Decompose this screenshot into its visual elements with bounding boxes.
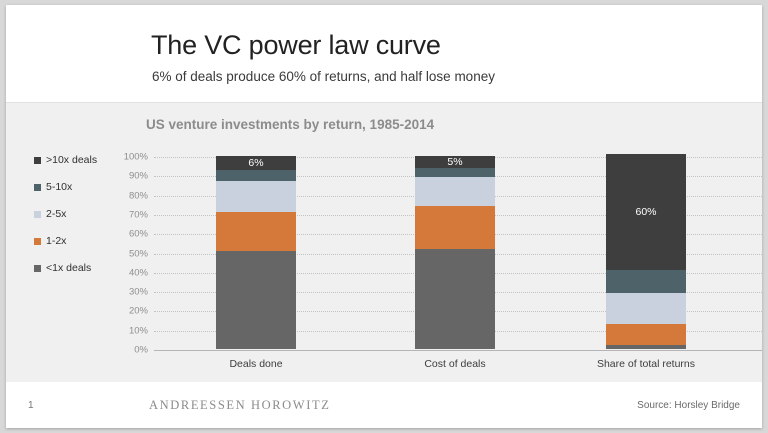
bar-column[interactable]: 60%Share of total returns: [606, 154, 686, 349]
chart-title: US venture investments by return, 1985-2…: [146, 117, 434, 132]
bar-segment[interactable]: [606, 345, 686, 349]
bar-segment[interactable]: [606, 293, 686, 324]
bar-segment[interactable]: [415, 177, 495, 206]
legend-swatch-icon: [34, 184, 41, 191]
source-note: Source: Horsley Bridge: [637, 400, 740, 411]
bar-value-label: 6%: [216, 158, 296, 169]
legend-swatch-icon: [34, 265, 41, 272]
slide: The VC power law curve 6% of deals produ…: [6, 5, 762, 428]
bar-segment[interactable]: 6%: [216, 156, 296, 170]
x-axis-category-label: Deals done: [176, 358, 336, 370]
bar-segment[interactable]: [415, 168, 495, 178]
y-axis-tick-label: 40%: [129, 268, 148, 278]
x-axis-category-label: Share of total returns: [566, 358, 726, 370]
legend-swatch-icon: [34, 238, 41, 245]
bar-segment[interactable]: [216, 251, 296, 349]
x-axis-line: [154, 350, 762, 351]
page-title: The VC power law curve: [151, 30, 441, 61]
legend-item[interactable]: 1-2x: [34, 234, 139, 248]
chart-legend: >10x deals5-10x2-5x1-2x<1x deals: [34, 153, 139, 288]
slide-footer: 1 ANDREESSEN HOROWITZ Source: Horsley Br…: [6, 382, 762, 428]
y-axis-tick-label: 70%: [129, 210, 148, 220]
chart-plot-area: 100%90%80%70%60%50%40%30%20%10%0%6%Deals…: [154, 156, 762, 350]
bar-segment[interactable]: [216, 181, 296, 212]
bar-segment[interactable]: [606, 324, 686, 345]
slide-header: The VC power law curve 6% of deals produ…: [6, 5, 762, 102]
page-number: 1: [28, 400, 34, 411]
y-axis-tick-label: 20%: [129, 307, 148, 317]
legend-label: >10x deals: [46, 155, 97, 166]
bar-segment[interactable]: [216, 212, 296, 251]
brand-wordmark: ANDREESSEN HOROWITZ: [149, 398, 330, 413]
legend-item[interactable]: <1x deals: [34, 261, 139, 275]
legend-item[interactable]: 5-10x: [34, 180, 139, 194]
y-axis-tick-label: 0%: [134, 345, 148, 355]
legend-swatch-icon: [34, 157, 41, 164]
y-axis-tick-label: 100%: [124, 152, 148, 162]
bar-segment[interactable]: [606, 270, 686, 293]
chart-panel: US venture investments by return, 1985-2…: [6, 102, 762, 383]
y-axis-tick-label: 30%: [129, 287, 148, 297]
bar-segment[interactable]: [216, 170, 296, 182]
legend-label: 5-10x: [46, 182, 72, 193]
bar-value-label: 5%: [415, 157, 495, 168]
y-axis-tick-label: 90%: [129, 172, 148, 182]
legend-label: 2-5x: [46, 209, 66, 220]
bar-segment[interactable]: 5%: [415, 156, 495, 168]
legend-label: <1x deals: [46, 263, 91, 274]
x-axis-category-label: Cost of deals: [375, 358, 535, 370]
bar-column[interactable]: 5%Cost of deals: [415, 156, 495, 349]
y-axis-tick-label: 10%: [129, 326, 148, 336]
bar-segment[interactable]: 60%: [606, 154, 686, 270]
bar-segment[interactable]: [415, 206, 495, 248]
legend-swatch-icon: [34, 211, 41, 218]
bar-column[interactable]: 6%Deals done: [216, 156, 296, 349]
y-axis-tick-label: 60%: [129, 229, 148, 239]
y-axis-tick-label: 50%: [129, 249, 148, 259]
page-subtitle: 6% of deals produce 60% of returns, and …: [152, 69, 495, 84]
legend-item[interactable]: 2-5x: [34, 207, 139, 221]
legend-label: 1-2x: [46, 236, 66, 247]
bar-segment[interactable]: [415, 249, 495, 349]
bar-value-label: 60%: [606, 207, 686, 218]
y-axis-tick-label: 80%: [129, 191, 148, 201]
